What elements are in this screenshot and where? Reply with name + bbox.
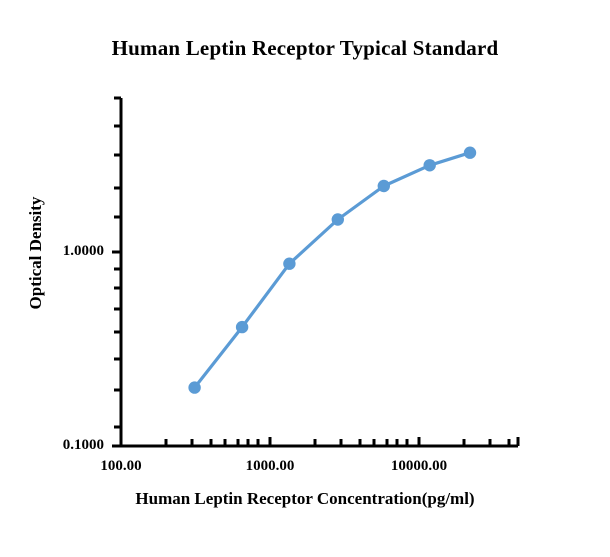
x-tick-label-10000: 10000.00 bbox=[364, 458, 474, 475]
data-point bbox=[283, 258, 295, 270]
y-axis-title: Optical Density bbox=[26, 173, 46, 333]
data-point-markers bbox=[188, 147, 476, 394]
x-tick-label-1000: 1000.00 bbox=[215, 458, 325, 475]
axis-lines bbox=[121, 98, 518, 446]
data-point bbox=[378, 180, 390, 192]
data-series-line bbox=[195, 153, 470, 388]
chart-container: Human Leptin Receptor Typical Standard bbox=[0, 0, 610, 557]
data-point bbox=[188, 381, 200, 393]
data-point bbox=[332, 213, 344, 225]
data-point bbox=[464, 147, 476, 159]
y-tick-label-0: 0.1000 bbox=[14, 437, 104, 454]
x-tick-label-100: 100.00 bbox=[66, 458, 176, 475]
data-point bbox=[424, 159, 436, 171]
data-point bbox=[236, 321, 248, 333]
x-axis-title: Human Leptin Receptor Concentration(pg/m… bbox=[0, 489, 610, 509]
